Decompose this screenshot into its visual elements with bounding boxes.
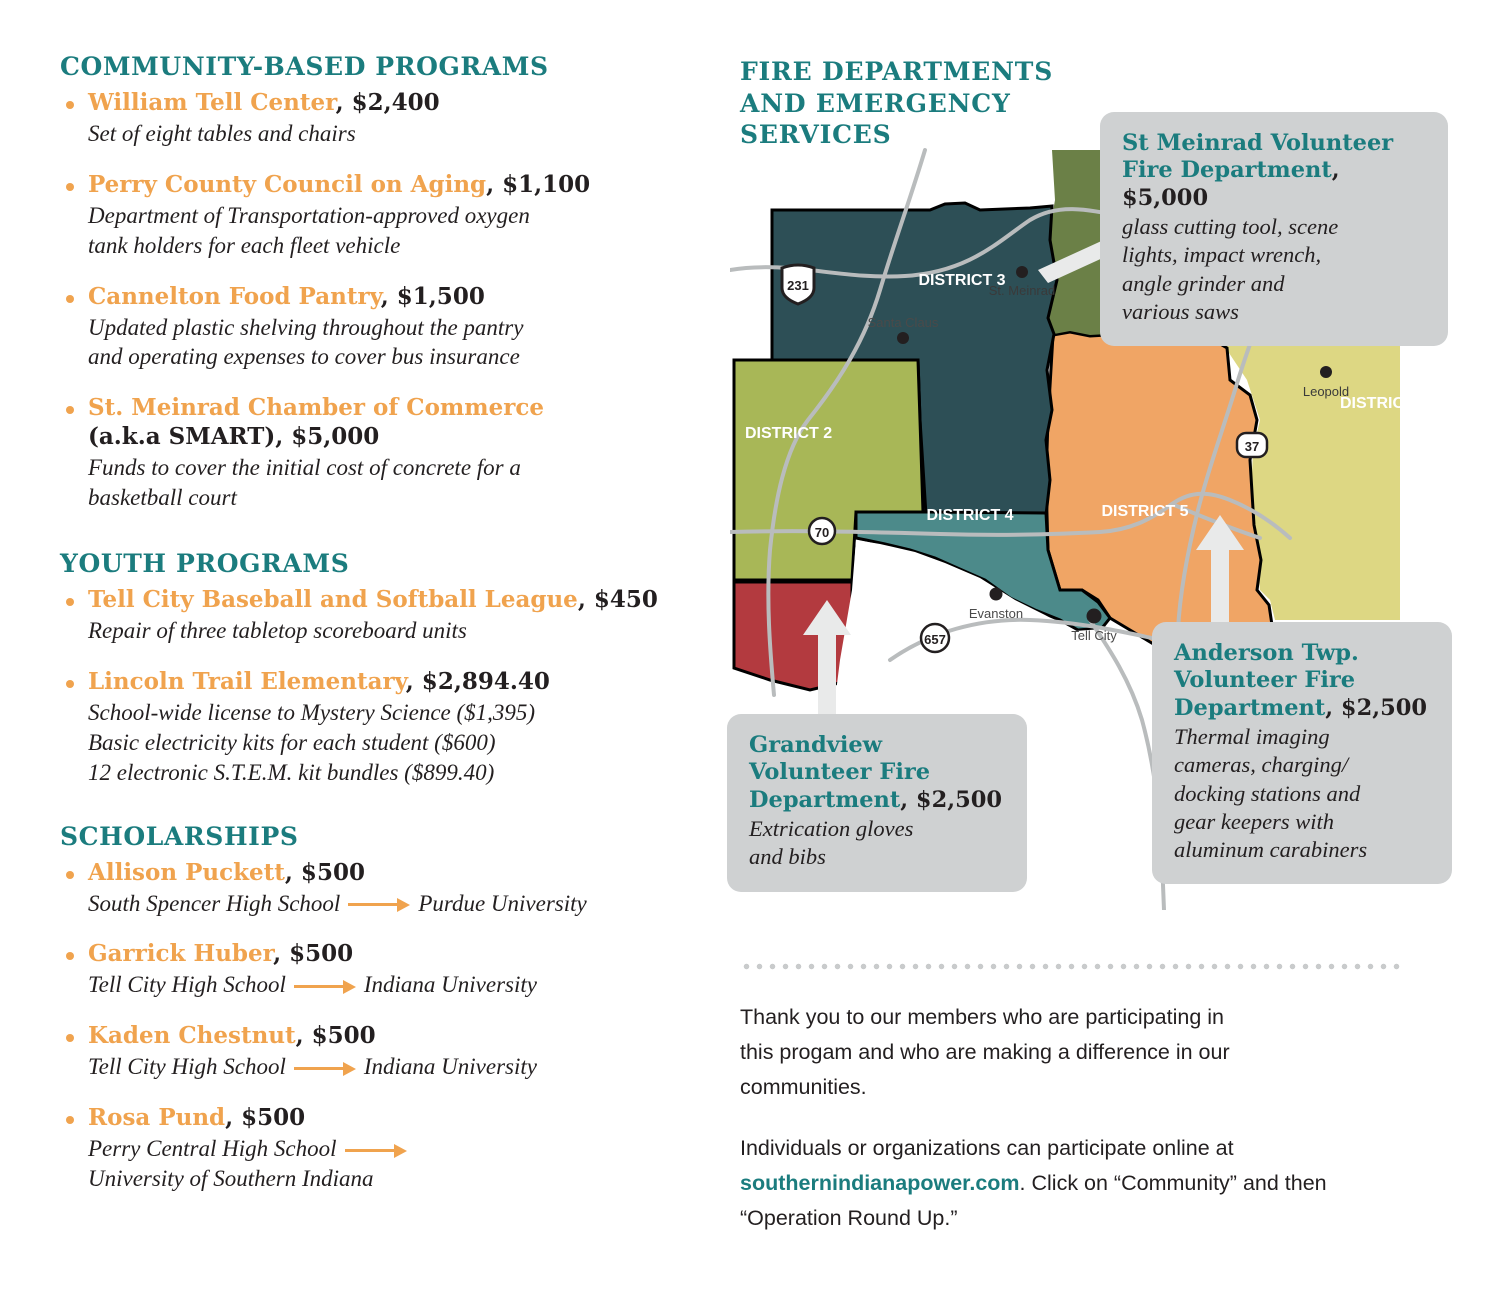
grant-amount: , $450 xyxy=(578,586,658,613)
description-line: Set of eight tables and chairs xyxy=(88,119,720,149)
grant-description: Set of eight tables and chairs xyxy=(88,119,720,149)
list-item: Kaden Chestnut, $500 Tell City High Scho… xyxy=(60,1022,720,1082)
scholarship-origin-row: Perry Central High School xyxy=(88,1134,415,1164)
grant-amount: , $1,500 xyxy=(381,283,485,310)
district-label-3: DISTRICT 3 xyxy=(918,272,1005,289)
destination-school: University of Southern Indiana xyxy=(88,1164,720,1194)
grant-headline: Allison Puckett, $500 xyxy=(88,859,720,888)
recipient-name: Cannelton Food Pantry xyxy=(88,283,381,310)
grant-description: Funds to cover the initial cost of concr… xyxy=(88,453,720,513)
place-dot-evanston xyxy=(990,588,1003,601)
place-label-evanston: Evanston xyxy=(969,606,1023,621)
description-line: docking stations and xyxy=(1174,780,1430,808)
grant-amount: , $500 xyxy=(273,940,353,967)
recipient-name: Allison Puckett xyxy=(88,859,285,886)
description-line: Repair of three tabletop scoreboard unit… xyxy=(88,616,720,646)
highway-shield-657: 657 xyxy=(921,624,949,652)
list-item: Rosa Pund, $500 Perry Central High Schoo… xyxy=(60,1104,720,1194)
grant-amount: , $1,100 xyxy=(486,171,590,198)
footer-paragraph-2: Individuals or organizations can partici… xyxy=(740,1131,1360,1236)
bullet-icon xyxy=(66,952,74,960)
grant-headline: William Tell Center, $2,400 xyxy=(88,89,720,118)
grant-amount: , $500 xyxy=(296,1022,376,1049)
origin-school: Tell City High School xyxy=(88,970,286,1000)
svg-text:657: 657 xyxy=(924,632,946,647)
dotted-divider xyxy=(740,963,1400,970)
destination-school: Indiana University xyxy=(364,970,537,1000)
scholarship-path: Tell City High SchoolIndiana University xyxy=(88,970,537,1000)
grant-headline: Garrick Huber, $500 xyxy=(88,940,720,969)
bullet-icon xyxy=(66,680,74,688)
origin-school: Tell City High School xyxy=(88,1052,286,1082)
footer-line: this progam and who are making a differe… xyxy=(740,1035,1360,1070)
grant-headline: Perry County Council on Aging, $1,100 xyxy=(88,171,720,200)
svg-text:231: 231 xyxy=(787,278,809,293)
grant-headline: Tell City Baseball and Softball League, … xyxy=(88,586,720,615)
recipient-name: Perry County Council on Aging xyxy=(88,171,486,198)
description-line: cameras, charging/ xyxy=(1174,751,1430,779)
grant-headline: Rosa Pund, $500 xyxy=(88,1104,720,1133)
place-dot-santa-claus xyxy=(897,332,909,344)
place-label-santa-claus: Santa Claus xyxy=(868,315,939,330)
highway-shield-37: 37 xyxy=(1237,433,1267,457)
recipient-name: Rosa Pund xyxy=(88,1104,225,1131)
section-heading-scholarships: SCHOLARSHIPS xyxy=(60,822,720,851)
description-line: lights, impact wrench, xyxy=(1122,241,1426,269)
description-line: School-wide license to Mystery Science (… xyxy=(88,698,720,728)
section-heading-community: COMMUNITY-BASED PROGRAMS xyxy=(60,52,720,81)
list-item: Cannelton Food Pantry, $1,500 Updated pl… xyxy=(60,283,720,373)
arrow-right-icon xyxy=(294,1061,356,1075)
callout-anderson-twp-vfd: Anderson Twp. Volunteer Fire Department,… xyxy=(1152,622,1452,884)
scholarship-path: South Spencer High SchoolPurdue Universi… xyxy=(88,889,587,919)
description-line: 12 electronic S.T.E.M. kit bundles ($899… xyxy=(88,758,720,788)
description-line: Basic electricity kits for each student … xyxy=(88,728,720,758)
description-line: Funds to cover the initial cost of concr… xyxy=(88,453,720,483)
place-dot-tell-city xyxy=(1087,609,1102,624)
description-line: Thermal imaging xyxy=(1174,723,1430,751)
description-line: aluminum carabiners xyxy=(1174,836,1430,864)
grant-headline: St. Meinrad Chamber of Commerce xyxy=(88,394,720,423)
description-line: various saws xyxy=(1122,298,1426,326)
bullet-icon xyxy=(66,406,74,414)
description-line: and bibs xyxy=(749,843,1005,871)
grant-headline-continuation: (a.k.a SMART), $5,000 xyxy=(88,423,720,452)
callout-title: St Meinrad Volunteer Fire Department, $5… xyxy=(1122,130,1426,212)
arrow-right-icon xyxy=(348,897,410,911)
place-label-tell-city: Tell City xyxy=(1071,628,1117,643)
description-line: and operating expenses to cover bus insu… xyxy=(88,342,720,372)
origin-school: Perry Central High School xyxy=(88,1134,337,1164)
website-link[interactable]: southernindianapower.com xyxy=(740,1171,1020,1195)
grant-amount: , $500 xyxy=(285,859,365,886)
list-item: Tell City Baseball and Softball League, … xyxy=(60,586,720,646)
description-line: angle grinder and xyxy=(1122,270,1426,298)
description-line: basketball court xyxy=(88,483,720,513)
place-dot-leopold xyxy=(1320,366,1332,378)
origin-school: South Spencer High School xyxy=(88,889,340,919)
district-label-6: DISTRIC xyxy=(1340,395,1400,412)
description-line: Updated plastic shelving throughout the … xyxy=(88,313,720,343)
grant-headline: Lincoln Trail Elementary, $2,894.40 xyxy=(88,668,720,697)
grant-amount: (a.k.a SMART), $5,000 xyxy=(88,423,720,452)
callout-amount: , $2,500 xyxy=(900,787,1002,813)
bullet-icon xyxy=(66,295,74,303)
recipient-name: William Tell Center xyxy=(88,89,336,116)
list-item: Perry County Council on Aging, $1,100 De… xyxy=(60,171,720,261)
bullet-icon xyxy=(66,1034,74,1042)
callout-description: Thermal imaging cameras, charging/ docki… xyxy=(1174,723,1430,864)
highway-shield-70: 70 xyxy=(809,518,835,544)
grant-headline: Kaden Chestnut, $500 xyxy=(88,1022,720,1051)
list-item: Allison Puckett, $500 South Spencer High… xyxy=(60,859,720,919)
description-line: tank holders for each fleet vehicle xyxy=(88,231,720,261)
description-line: Extrication gloves xyxy=(749,815,1005,843)
scholarship-path: Tell City High SchoolIndiana University xyxy=(88,1052,537,1082)
description-line: glass cutting tool, scene xyxy=(1122,213,1426,241)
recipient-name: Garrick Huber xyxy=(88,940,273,967)
grant-list-youth: Tell City Baseball and Softball League, … xyxy=(60,586,720,788)
description-line: gear keepers with xyxy=(1174,808,1430,836)
highway-shield-231: 231 xyxy=(782,265,814,304)
svg-text:70: 70 xyxy=(815,525,829,540)
recipient-name: Tell City Baseball and Softball League xyxy=(88,586,578,613)
district-label-2: DISTRICT 2 xyxy=(745,425,832,442)
footer-paragraph-1: Thank you to our members who are partici… xyxy=(740,1000,1360,1105)
page-root: COMMUNITY-BASED PROGRAMS William Tell Ce… xyxy=(0,0,1500,1295)
list-item: Lincoln Trail Elementary, $2,894.40 Scho… xyxy=(60,668,720,788)
footer-line: Thank you to our members who are partici… xyxy=(740,1000,1360,1035)
description-line: Department of Transportation-approved ox… xyxy=(88,201,720,231)
scholarship-path: Perry Central High SchoolUniversity of S… xyxy=(88,1134,720,1194)
section-heading-youth: YOUTH PROGRAMS xyxy=(60,549,720,578)
grant-amount: , $500 xyxy=(225,1104,305,1131)
callout-department-name: St Meinrad Volunteer Fire Department xyxy=(1122,130,1393,183)
destination-school: Indiana University xyxy=(364,1052,537,1082)
list-item: Garrick Huber, $500 Tell City High Schoo… xyxy=(60,940,720,1000)
grant-amount: , $2,894.40 xyxy=(406,668,550,695)
callout-grandview-vfd: Grandview Volunteer Fire Department, $2,… xyxy=(727,714,1027,892)
grant-list-community: William Tell Center, $2,400 Set of eight… xyxy=(60,89,720,513)
arrow-right-icon xyxy=(294,979,356,993)
grant-list-scholarships: Allison Puckett, $500 South Spencer High… xyxy=(60,859,720,1194)
heading-line-1: FIRE DEPARTMENTS xyxy=(740,56,1440,88)
bullet-icon xyxy=(66,183,74,191)
list-item: William Tell Center, $2,400 Set of eight… xyxy=(60,89,720,149)
recipient-name: St. Meinrad Chamber of Commerce xyxy=(88,394,544,421)
grant-description: Repair of three tabletop scoreboard unit… xyxy=(88,616,720,646)
grant-description: School-wide license to Mystery Science (… xyxy=(88,698,720,788)
callout-title: Grandview Volunteer Fire Department, $2,… xyxy=(749,732,1005,814)
svg-text:37: 37 xyxy=(1245,439,1259,454)
recipient-name: Kaden Chestnut xyxy=(88,1022,296,1049)
callout-amount: , $2,500 xyxy=(1325,695,1427,721)
grant-description: Department of Transportation-approved ox… xyxy=(88,201,720,261)
recipient-name: Lincoln Trail Elementary xyxy=(88,668,406,695)
district-label-4: DISTRICT 4 xyxy=(926,507,1013,524)
grants-column: COMMUNITY-BASED PROGRAMS William Tell Ce… xyxy=(60,52,720,1216)
callout-st-meinrad-vfd: St Meinrad Volunteer Fire Department, $5… xyxy=(1100,112,1448,346)
list-item: St. Meinrad Chamber of Commerce (a.k.a S… xyxy=(60,394,720,513)
grant-description: Updated plastic shelving throughout the … xyxy=(88,313,720,373)
district-label-5: DISTRICT 5 xyxy=(1101,503,1188,520)
arrow-right-icon xyxy=(345,1143,407,1157)
bullet-icon xyxy=(66,1116,74,1124)
bullet-icon xyxy=(66,871,74,879)
callout-title: Anderson Twp. Volunteer Fire Department,… xyxy=(1174,640,1430,722)
footer-line: communities. xyxy=(740,1070,1360,1105)
destination-school: Purdue University xyxy=(418,889,586,919)
bullet-icon xyxy=(66,101,74,109)
callout-description: glass cutting tool, scene lights, impact… xyxy=(1122,213,1426,326)
footer-text: Thank you to our members who are partici… xyxy=(740,1000,1360,1262)
bullet-icon xyxy=(66,598,74,606)
grant-amount: , $2,400 xyxy=(336,89,440,116)
footer-line: Individuals or organizations can partici… xyxy=(740,1136,1234,1160)
grant-headline: Cannelton Food Pantry, $1,500 xyxy=(88,283,720,312)
place-dot-st-meinrad xyxy=(1016,266,1028,278)
callout-description: Extrication gloves and bibs xyxy=(749,815,1005,871)
